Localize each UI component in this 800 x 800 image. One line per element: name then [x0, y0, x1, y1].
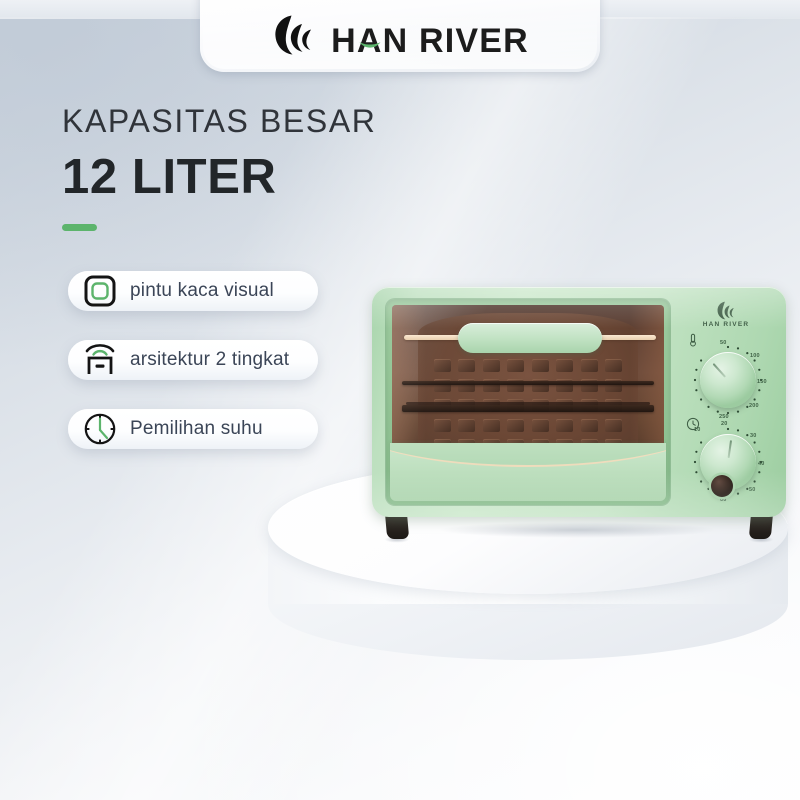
headline-accent-rule: [62, 224, 97, 231]
clock-icon: [686, 417, 700, 431]
timer-mark: 20: [721, 421, 728, 427]
two-tier-heat-icon: [80, 337, 120, 377]
temperature-mark: 150: [757, 379, 767, 385]
cavity-grid-row: [428, 419, 628, 432]
oven-cavity-wall-right: [630, 305, 664, 465]
feature-pill-temperature[interactable]: Pemilihan suhu: [68, 409, 318, 449]
cavity-grid-row: [428, 399, 628, 412]
oven-door[interactable]: [386, 299, 670, 505]
timer-mark: 40: [758, 461, 765, 467]
feature-pill-glass-door[interactable]: pintu kaca visual: [68, 271, 318, 311]
door-handle[interactable]: [458, 323, 602, 353]
feature-label: Pemilihan suhu: [130, 418, 263, 440]
cavity-grid-row: [428, 459, 628, 465]
oven-cavity-wall-left: [392, 305, 426, 465]
door-lower-panel: [390, 443, 666, 501]
cavity-grid-row: [428, 359, 628, 372]
temperature-knob[interactable]: [700, 352, 756, 408]
oven-control-panel: HAN RIVER: [678, 299, 774, 505]
oven-contact-shadow: [386, 519, 770, 541]
brand-name-part-1: H: [331, 24, 357, 58]
oven-body: HAN RIVER: [372, 287, 786, 517]
feature-pill-two-tier[interactable]: arsitektur 2 tingkat: [68, 340, 318, 380]
temperature-mark: 250: [719, 414, 729, 420]
oven-cavity-grid: [428, 359, 628, 437]
brand-name-part-2: N RIVER: [383, 24, 529, 58]
temperature-mark: 50: [720, 340, 727, 346]
brand-name-letter-a: A: [357, 24, 383, 58]
timer-dial-ticks: [691, 425, 765, 499]
clock-temperature-icon: [80, 409, 120, 449]
power-indicator-light: [711, 475, 733, 497]
panel-brand-text: HAN RIVER: [678, 321, 774, 328]
product-banner-stage: H A N RIVER KAPASITAS BESAR 12 LITER pi: [0, 0, 800, 800]
temperature-mark: 100: [750, 353, 760, 359]
cavity-grid-row: [428, 439, 628, 452]
glass-door-icon: [80, 271, 120, 311]
brand-name: H A N RIVER: [331, 24, 529, 58]
han-river-swirl-logo-icon: [271, 14, 317, 58]
timer-mark: 60: [720, 497, 727, 503]
glass-reflection: [392, 305, 664, 465]
thermometer-icon: [686, 333, 700, 347]
oven-glass-window: [392, 305, 664, 465]
timer-dial[interactable]: 10 20 30 40 50 60: [691, 425, 765, 499]
oven-rack-upper: [402, 381, 654, 385]
feature-label: arsitektur 2 tingkat: [130, 349, 289, 371]
timer-mark: 10: [694, 427, 701, 433]
han-river-mini-oven: HAN RIVER: [372, 287, 786, 534]
headline-title: 12 LITER: [62, 151, 376, 204]
brand-green-swoosh-icon: [358, 40, 381, 51]
oven-rack-lower: [402, 405, 654, 412]
timer-knob[interactable]: [700, 434, 756, 490]
oven-cavity-back: [418, 313, 638, 461]
temperature-mark: 200: [749, 403, 759, 409]
feature-list: pintu kaca visual arsitektur 2 tingkat: [68, 271, 318, 478]
feature-label: pintu kaca visual: [130, 280, 274, 302]
headline-subtitle: KAPASITAS BESAR: [62, 104, 376, 139]
headline-block: KAPASITAS BESAR 12 LITER: [62, 104, 376, 231]
temperature-dial[interactable]: 50 100 150 200 250: [691, 343, 765, 417]
timer-mark: 30: [750, 433, 757, 439]
panel-han-river-logo-icon: [715, 301, 737, 321]
temperature-dial-ticks: [691, 343, 765, 417]
cavity-grid-row: [428, 379, 628, 392]
door-handle-rod: [404, 335, 656, 340]
brand-logo-banner: H A N RIVER: [200, 0, 600, 72]
timer-mark: 50: [749, 487, 756, 493]
